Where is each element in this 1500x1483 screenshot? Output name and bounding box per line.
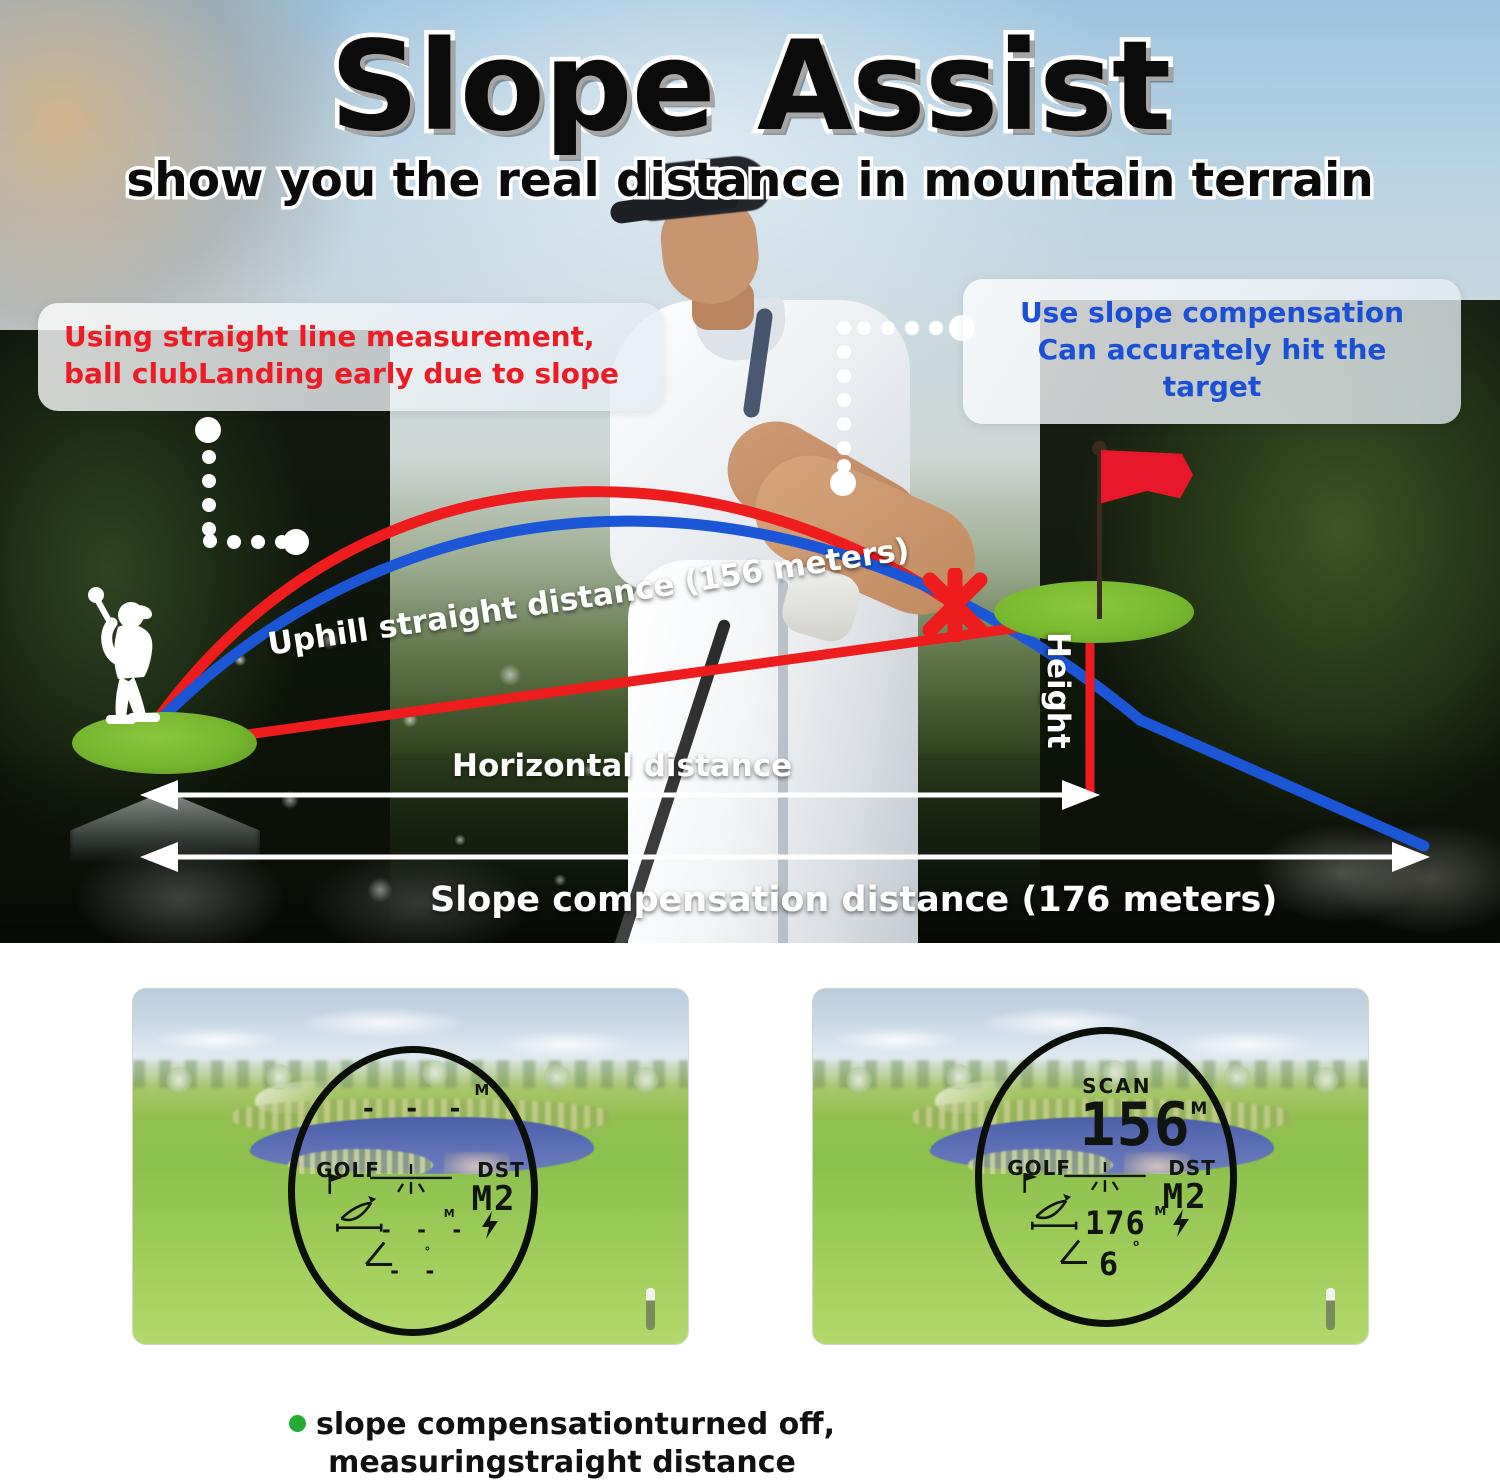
angle-icon-right bbox=[1061, 1241, 1087, 1263]
scope-panel-slope-on: SCAN 156 M GOLF DST M2 176 M 6 ° slope c… bbox=[812, 988, 1369, 1345]
lcd-overlay-left bbox=[133, 989, 688, 1344]
hero-section: Slope Assist show you the real distance … bbox=[0, 0, 1500, 943]
callout-left-line2: ball clubLanding early due to slope bbox=[64, 356, 637, 393]
lcd-angle-unit-right: ° bbox=[1132, 1238, 1140, 1257]
leader-line-right bbox=[830, 315, 975, 496]
slope-hill-icon-left bbox=[337, 1196, 381, 1232]
battery-bolt-icon-right bbox=[1168, 1206, 1194, 1240]
scope-panel-slope-off: - - - M GOLF DST M2 - - - M - - ° slope … bbox=[132, 988, 689, 1345]
leader-line-left bbox=[195, 417, 309, 555]
status-bullet-off bbox=[289, 1415, 306, 1432]
lcd-mode-golf-right: GOLF bbox=[1007, 1156, 1071, 1180]
lcd-slope-unit-left: M bbox=[444, 1207, 455, 1220]
lcd-overlay-right bbox=[813, 989, 1368, 1344]
lcd-angle-unit-left: ° bbox=[424, 1245, 430, 1259]
lcd-main-unit-right: M bbox=[1190, 1099, 1207, 1119]
page-subtitle: show you the real distance in mountain t… bbox=[0, 154, 1500, 208]
scope-photo-left: - - - M GOLF DST M2 - - - M - - ° bbox=[132, 988, 689, 1345]
lcd-angle-value-left: - - bbox=[388, 1259, 441, 1283]
lcd-main-value-right: 156 bbox=[1079, 1090, 1190, 1160]
lcd-mode-golf-left: GOLF bbox=[316, 1158, 380, 1182]
caption-left-line1: slope compensationturned off, bbox=[316, 1407, 835, 1442]
lcd-angle-value-right: 6 bbox=[1099, 1245, 1120, 1283]
lcd-slope-value-right: 176 bbox=[1085, 1204, 1146, 1242]
slope-hill-icon-right bbox=[1032, 1194, 1076, 1230]
lcd-main-unit-left: M bbox=[474, 1081, 489, 1099]
lcd-slope-unit-right: M bbox=[1154, 1204, 1166, 1218]
caption-left-line2: measuringstraight distance bbox=[328, 1445, 796, 1480]
callout-slope-compensation: Use slope compensation Can accurately hi… bbox=[963, 279, 1461, 424]
comparison-section: - - - M GOLF DST M2 - - - M - - ° slope … bbox=[0, 943, 1500, 1464]
scope-photo-right: SCAN 156 M GOLF DST M2 176 M 6 ° bbox=[812, 988, 1369, 1345]
callout-straight-measurement: Using straight line measurement, ball cl… bbox=[38, 303, 663, 411]
headline-block: Slope Assist show you the real distance … bbox=[0, 24, 1500, 209]
lcd-main-value-left: - - - bbox=[361, 1094, 469, 1124]
callout-left-line1: Using straight line measurement, bbox=[64, 319, 637, 356]
lcd-slope-value-left: - - - bbox=[380, 1218, 468, 1242]
caption-slope-off: slope compensationturned off, measurings… bbox=[242, 1406, 882, 1483]
battery-bolt-icon-left bbox=[477, 1209, 503, 1241]
page-title: Slope Assist bbox=[0, 24, 1500, 150]
callout-right-line1: Use slope compensation bbox=[989, 295, 1435, 332]
callout-right-line2: Can accurately hit the target bbox=[989, 332, 1435, 406]
